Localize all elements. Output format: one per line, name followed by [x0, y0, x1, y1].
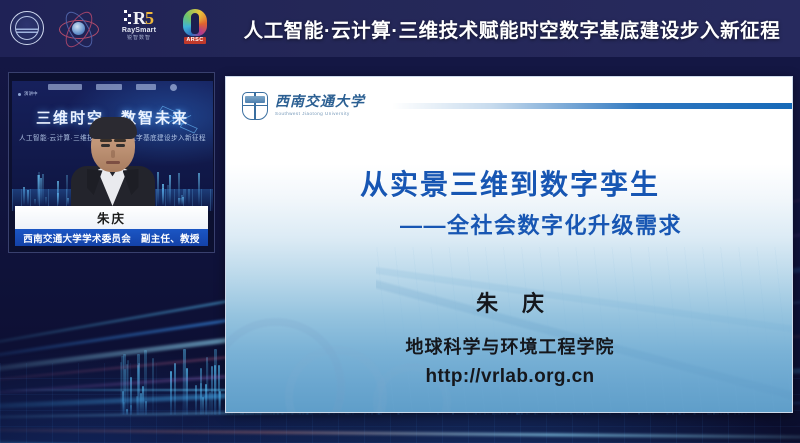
- slide-title: 从实景三维到数字孪生: [226, 163, 793, 203]
- slide-subtitle: ——全社会数字化升级需求: [226, 208, 793, 240]
- arsc-label: ARSC: [184, 37, 205, 44]
- backdrop-logo-1: [48, 84, 82, 90]
- sjtu-name-en: Southwest Jiaotong University: [275, 111, 365, 117]
- broadcast-screen: R5 RaySmart 锐智数智 ARSC 人工智能·云计算·三维技术赋能时空数…: [0, 0, 800, 443]
- raysmart-wordmark-cn: 锐智数智: [127, 35, 151, 42]
- sponsor-logo-row: R5 RaySmart 锐智数智 ARSC: [10, 6, 211, 50]
- speaker-portrait: [71, 119, 155, 211]
- presentation-slide[interactable]: 西南交通大学 Southwest Jiaotong University 从实景…: [225, 76, 793, 413]
- raysmart-wordmark: RaySmart: [122, 27, 156, 35]
- arsc-logo: ARSC: [179, 9, 211, 47]
- slide-presenter-name: 朱 庆: [226, 286, 793, 318]
- video-status-label: 演讲中: [24, 91, 38, 97]
- status-dot-icon: [18, 93, 21, 96]
- speaker-name: 朱庆: [15, 206, 208, 229]
- speaker-video-panel[interactable]: 三维时空 数智未来 人工智能·云计算·三维技术赋能时空数字基底建设步入新征程: [8, 72, 215, 253]
- raysmart-logo: R5 RaySmart 锐智数智: [112, 9, 166, 47]
- slide-department: 地球科学与环境工程学院: [226, 333, 793, 359]
- university-seal-logo: [10, 11, 44, 45]
- video-status-tag: 演讲中: [18, 91, 38, 97]
- raysmart-r: R: [133, 8, 145, 28]
- speaker-role: 西南交通大学学术委员会 副主任、教授: [15, 229, 208, 246]
- backdrop-logo-row: [12, 81, 213, 93]
- atom-network-logo: [57, 11, 99, 45]
- speaker-name-card: 朱庆 西南交通大学学术委员会 副主任、教授: [15, 206, 208, 246]
- raysmart-5: 5: [145, 8, 153, 28]
- slide-accent-bar: [392, 103, 792, 109]
- event-header-banner: R5 RaySmart 锐智数智 ARSC 人工智能·云计算·三维技术赋能时空数…: [0, 0, 800, 57]
- sjtu-shield-icon: [242, 92, 268, 120]
- video-feed[interactable]: 三维时空 数智未来 人工智能·云计算·三维技术赋能时空数字基底建设步入新征程: [12, 81, 213, 211]
- backdrop-logo-4: [170, 84, 177, 91]
- slide-url: http://vrlab.org.cn: [226, 366, 793, 388]
- event-title: 人工智能·云计算·三维技术赋能时空数字基底建设步入新征程: [232, 0, 792, 57]
- slide-bridge-decoration: [376, 247, 793, 413]
- sjtu-name-cn: 西南交通大学: [275, 96, 365, 110]
- slide-university-logo: 西南交通大学 Southwest Jiaotong University: [242, 92, 365, 120]
- backdrop-logo-2: [96, 84, 122, 90]
- backdrop-logo-3: [136, 84, 156, 90]
